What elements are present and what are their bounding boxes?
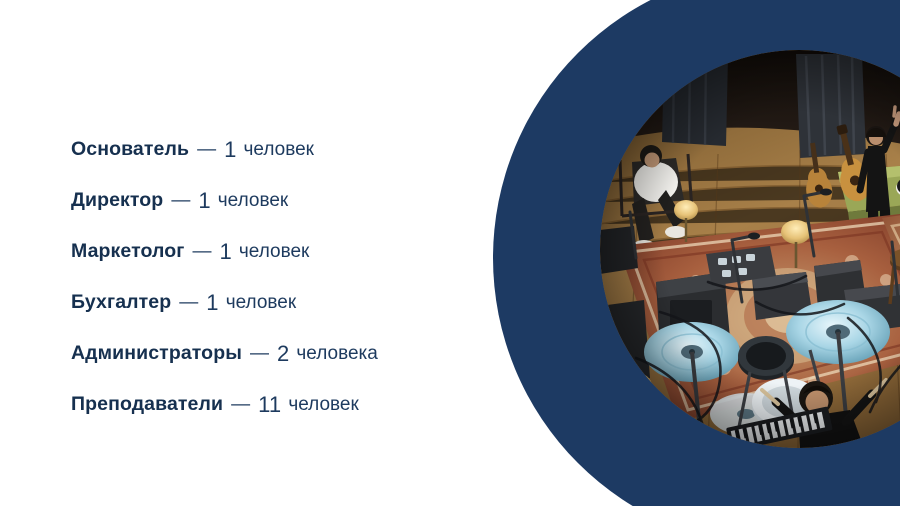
navy-circle-decoration — [493, 0, 900, 506]
role-count: 11 — [258, 394, 281, 416]
role-count: 2 — [277, 343, 289, 365]
role-label: Маркетолог — [71, 242, 184, 262]
role-count: 1 — [206, 292, 218, 314]
roster-row: Бухгалтер — 1 человек — [71, 277, 471, 328]
role-label: Преподаватели — [71, 395, 223, 415]
roster-row: Администраторы — 2 человека — [71, 328, 471, 379]
role-count-unit: человек — [219, 293, 296, 312]
roster-row: Директор — 1 человек — [71, 175, 471, 226]
role-label: Администраторы — [71, 344, 242, 364]
team-roster-list: Основатель — 1 человек Директор — 1 чело… — [71, 124, 471, 430]
separator-dash: — — [184, 242, 219, 261]
role-count-unit: человек — [232, 242, 309, 261]
role-label: Основатель — [71, 140, 189, 160]
role-count-unit: человек — [211, 191, 288, 210]
separator-dash: — — [189, 140, 224, 159]
separator-dash: — — [242, 344, 277, 363]
roster-row: Маркетолог — 1 человек — [71, 226, 471, 277]
rehearsal-room-photo — [600, 50, 900, 448]
separator-dash: — — [171, 293, 206, 312]
role-label: Директор — [71, 191, 163, 211]
role-count: 1 — [224, 139, 236, 161]
role-count: 1 — [219, 241, 231, 263]
role-label: Бухгалтер — [71, 293, 171, 313]
role-count-unit: человек — [281, 395, 358, 414]
role-count: 1 — [198, 190, 210, 212]
role-count-unit: человека — [289, 344, 377, 363]
roster-row: Преподаватели — 11 человек — [71, 379, 471, 430]
separator-dash: — — [163, 191, 198, 210]
roster-row: Основатель — 1 человек — [71, 124, 471, 175]
separator-dash: — — [223, 395, 258, 414]
slide-canvas: Основатель — 1 человек Директор — 1 чело… — [0, 0, 900, 506]
role-count-unit: человек — [237, 140, 314, 159]
